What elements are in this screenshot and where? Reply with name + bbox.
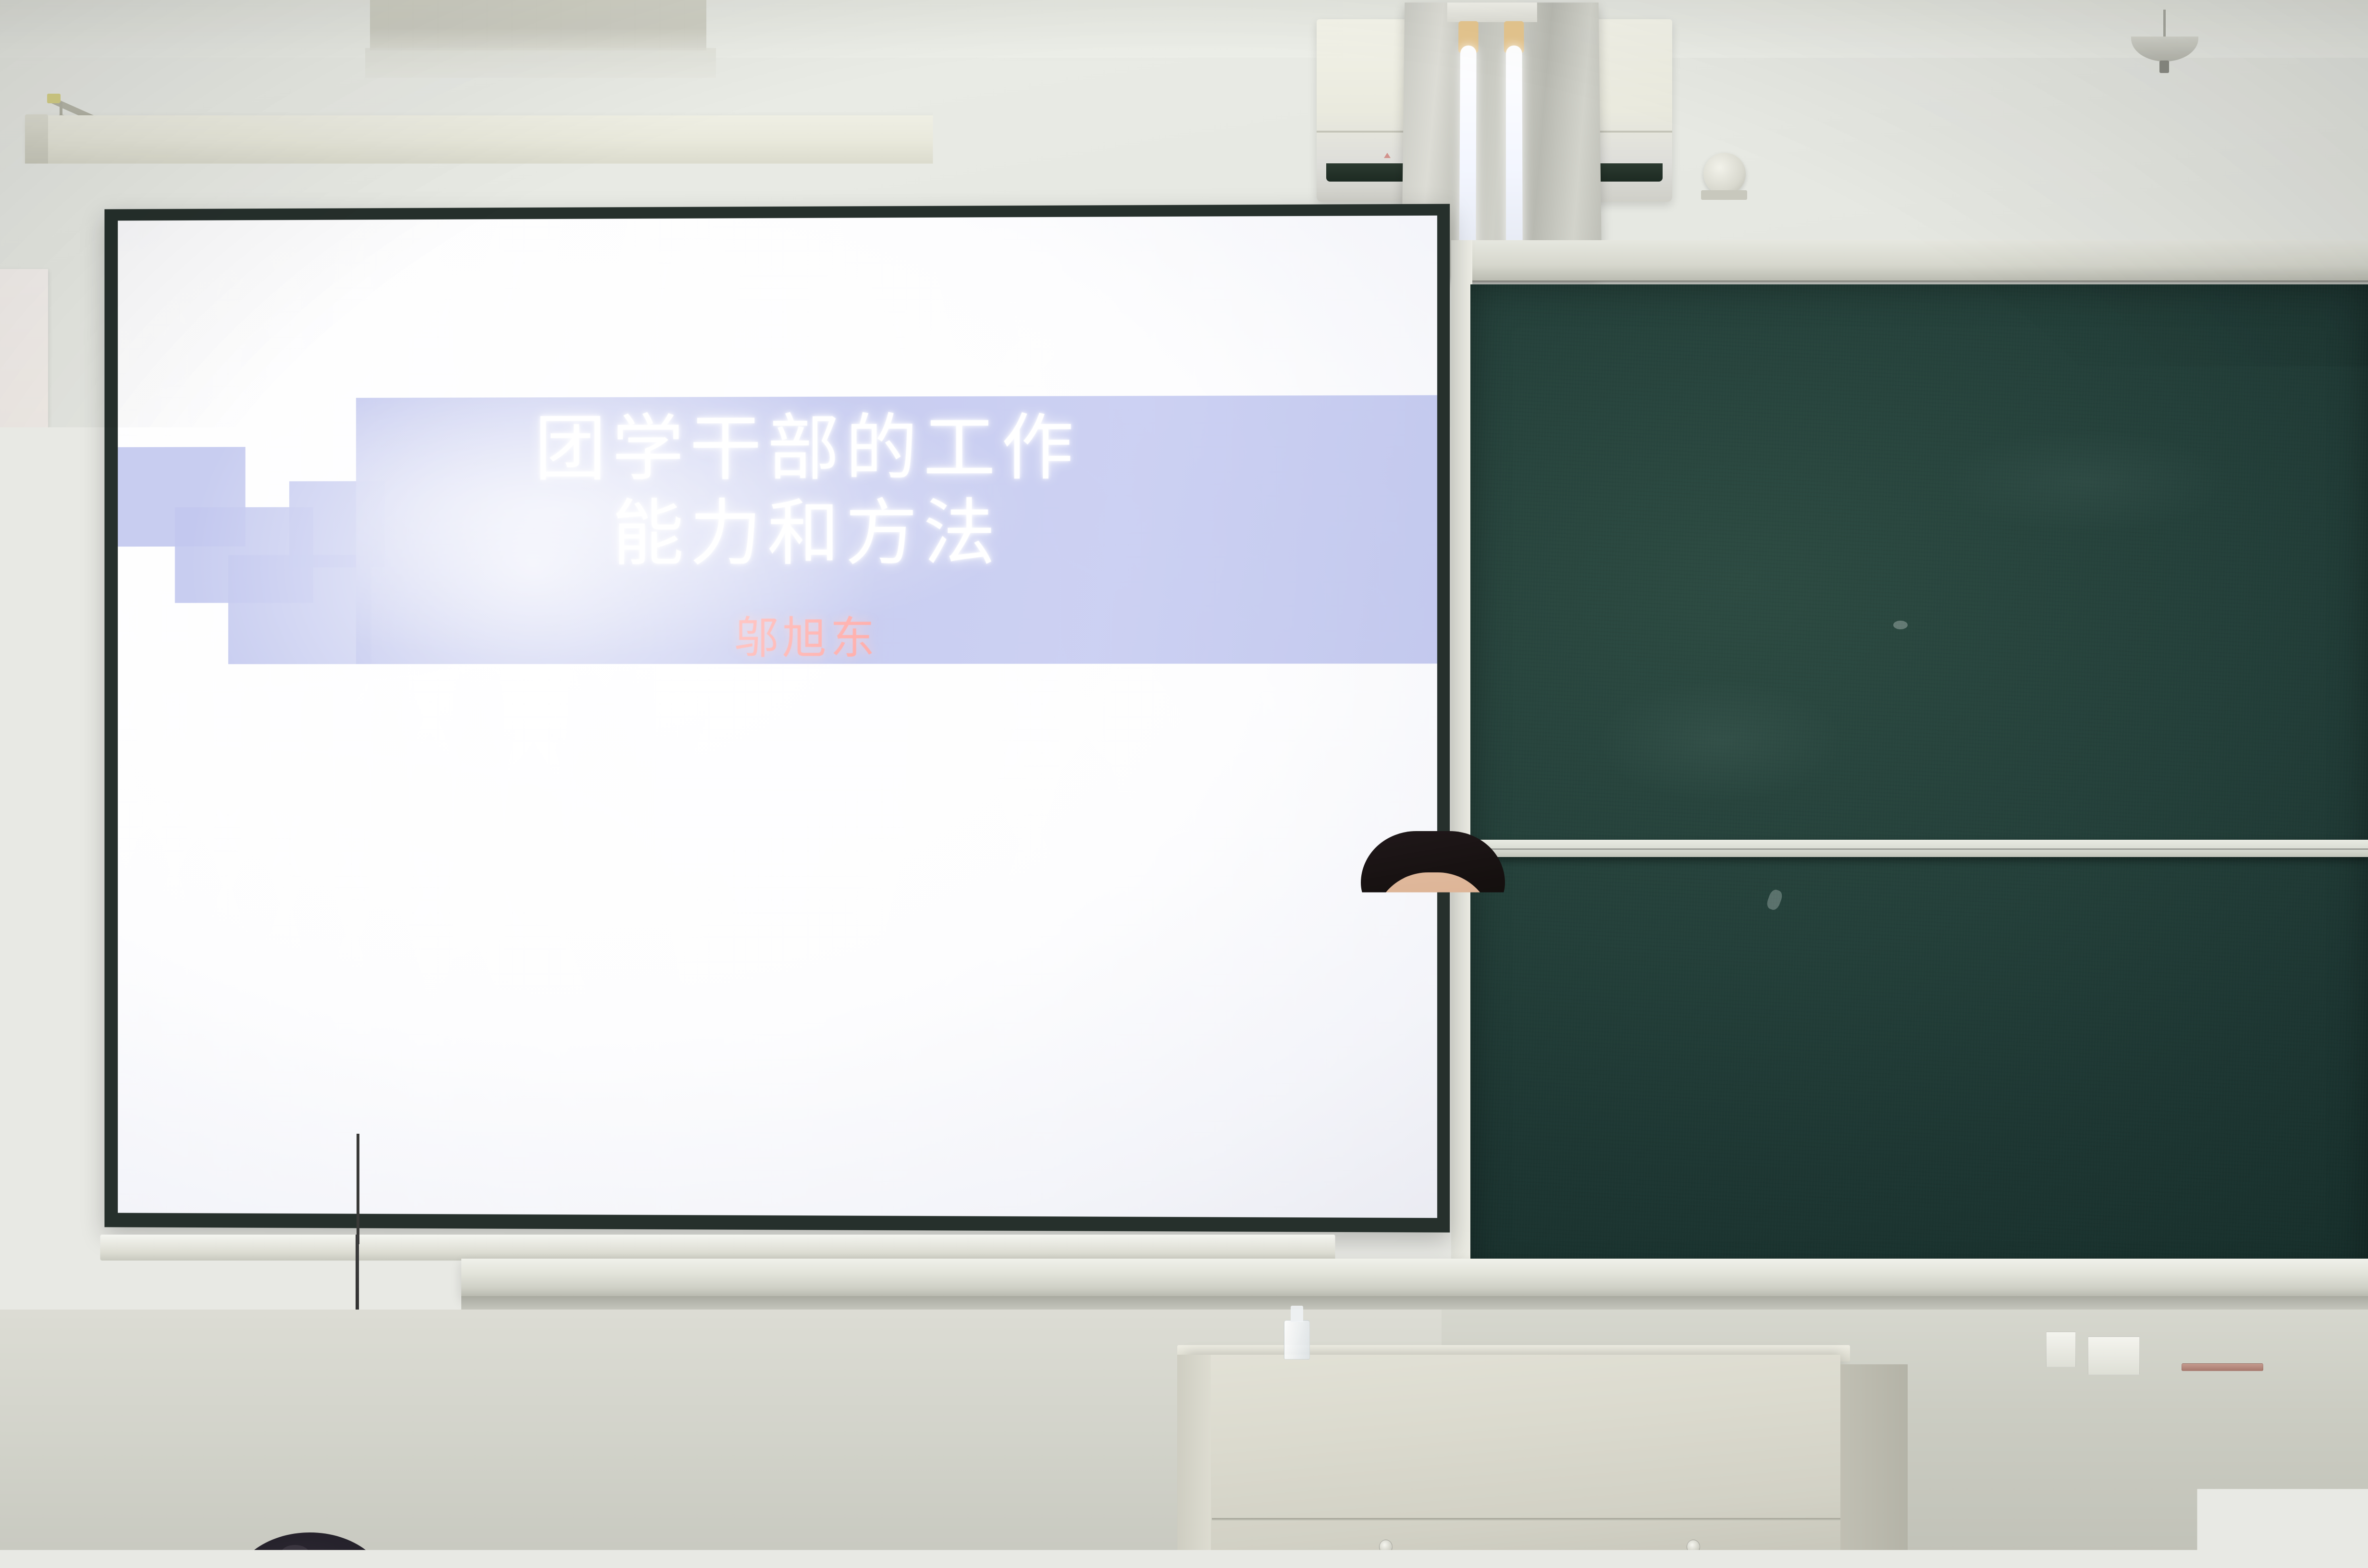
projection-screen-roller-end [25,114,48,179]
bracket-cap [47,94,61,103]
podium-right-face [1840,1364,1908,1568]
ceiling-light-shade [2131,37,2198,61]
presenter-ear-left [1366,922,1382,954]
poster-line: 纪律、爱护 [0,956,92,977]
slide-title-line-1: 团学干部的工作 [385,405,1231,492]
poster-line: 同学、爱护 [0,1066,92,1087]
ceiling-light-small [2119,10,2210,67]
blackboard-smudge [1941,429,2230,534]
tray-item-chalk-stick[interactable] [2182,1363,2263,1371]
blackboard-top-ledge [1470,240,2368,282]
poster-line: 预习、课后 [0,1029,92,1050]
poster-body: 仪表、举止 师长、团结 纪律、爱护 听讲、勤思 预习、课后 同学、爱护 [0,883,92,1102]
microphone-body[interactable] [1379,1278,1470,1331]
shirt-button [1431,1211,1440,1219]
chalk-mark [1893,621,1908,629]
poster-banner [0,783,92,827]
slide-title-line-2: 能力和方法 [385,490,1231,577]
foreground-hair-tuft [281,1545,309,1561]
podium-left-face [1177,1355,1211,1568]
tray-item-eraser[interactable] [2088,1336,2140,1375]
fluorescent-tube [1506,46,1523,252]
wall-poster-civility: 文明六 仪表、举止 师长、团结 纪律、爱护 听讲、勤思 预习、课后 同学、爱护 [0,783,92,1124]
presenter-ear-right [1484,921,1500,953]
shirt-button [1431,1139,1440,1147]
ceiling-light-rod [2163,10,2166,38]
ceiling-band [0,0,2368,58]
poster-line: 听讲、勤思 [0,992,92,1014]
slide-author-name: 邬旭东 [385,602,1231,666]
screen-pull-cord-upper[interactable] [357,1134,359,1244]
glasses-lens-right [1437,925,1483,953]
podium-drawer-seam [1212,1518,1840,1520]
wall-speaker-base [1701,190,1747,200]
wall-poster-small [0,269,48,644]
slide-title: 团学干部的工作 能力和方法 [385,405,1231,577]
poster-edge [91,777,94,1133]
wall-stain-upper [370,0,706,50]
classroom-scene: 文明六 仪表、举止 师长、团结 纪律、爱护 听讲、勤思 预习、课后 同学、爱护 [0,0,2368,1568]
glasses-lens-left [1382,926,1428,954]
tray-item-chalk-box[interactable] [2046,1332,2076,1367]
poster-line: 师长、团结 [0,919,92,941]
projection-screen-weight-bar [100,1235,1335,1261]
glasses-bridge [1427,937,1439,939]
wall-speaker-icon [1703,153,1746,195]
slide-accent-block [228,555,371,664]
blackboard-smudge [1595,678,1845,803]
poster-title: 文明六 [0,842,71,880]
fluorescent-tube [1459,46,1477,252]
podium-lock-icon[interactable] [1687,1540,1700,1554]
microphone-switch[interactable] [1408,1303,1424,1313]
presenter-mouth [1418,986,1449,996]
light-mount [1447,2,1537,22]
triangle-logo-icon [1288,139,1295,146]
ceiling-light-tip [2159,61,2169,73]
wall-stain-lower [365,48,716,78]
podium-drawer-handle[interactable] [1511,1556,1570,1568]
projection-screen-roller[interactable] [29,115,1437,177]
screen-brand-icon [1288,139,1295,146]
poster-line: 仪表、举止 [0,883,92,904]
podium-lock-icon[interactable] [1379,1540,1393,1554]
presenter-nose [1426,952,1439,979]
